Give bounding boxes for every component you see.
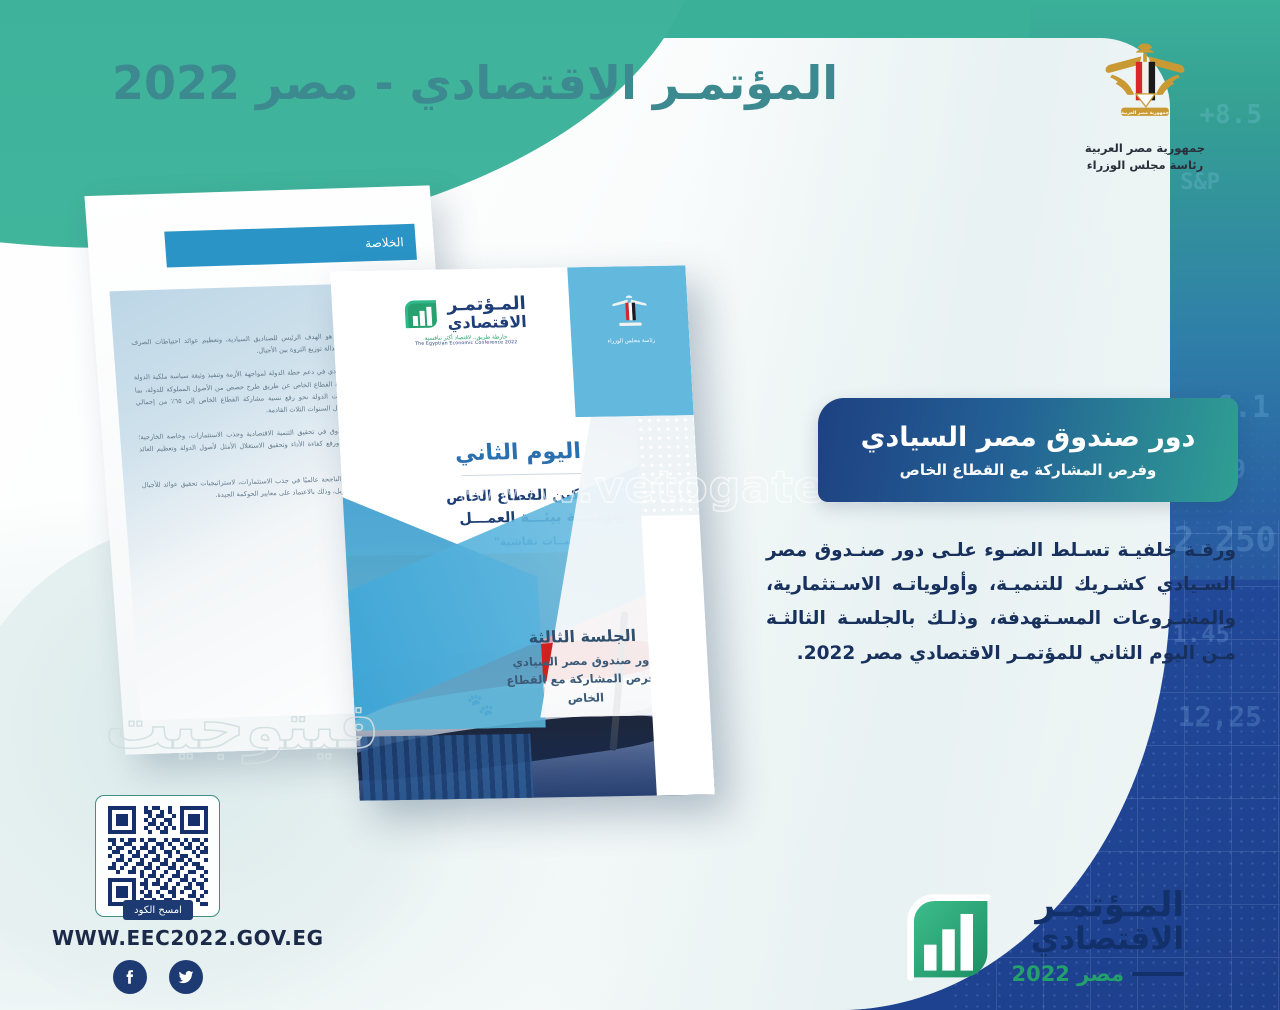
social-links[interactable]: [113, 960, 203, 994]
government-emblem-block: جمهورية مصر العربية جمهورية مصر العربية …: [1070, 36, 1220, 175]
summary-header-bar: الخلاصة: [164, 224, 417, 268]
emblem-caption-line2: رئاسة مجلس الوزراء: [1070, 157, 1220, 174]
facebook-icon[interactable]: [113, 960, 147, 994]
body-paragraph: ورقـة خلفيـة تسـلط الضـوء علـى دور صنـدو…: [766, 534, 1236, 671]
cover-logo-mark-row: المـؤتمـر الاقتصادي: [402, 295, 527, 333]
twitter-icon[interactable]: [169, 960, 203, 994]
poster-canvas: +8.5 S&P +6.1 +3.9 2,250 1.45 12,25 المؤ…: [0, 0, 1280, 1010]
emblem-caption: جمهورية مصر العربية رئاسة مجلس الوزراء: [1070, 140, 1220, 175]
document-front-cover: رئاسة مجلس الوزراء المـؤتمـر الاقتصادي خ…: [330, 265, 715, 800]
cover-conference-logo: المـؤتمـر الاقتصادي خارطة طريق.. لاقتصاد…: [369, 294, 562, 348]
cover-logo-words: المـؤتمـر الاقتصادي: [446, 295, 527, 332]
event-logo-dash: [1132, 972, 1184, 976]
cover-session-sub-line2: وفرص المشاركة مع القطاع: [506, 671, 663, 688]
page-title: المؤتمـر الاقتصادي - مصر 2022: [0, 56, 950, 110]
leaf-bar-chart-logo-mark-icon: [901, 889, 997, 985]
event-logo-line1: المـؤتمـر: [1011, 888, 1184, 922]
session-banner: دور صندوق مصر السيادي وفرص المشاركة مع ا…: [818, 398, 1238, 502]
banner-subtitle: وفرص المشاركة مع القطاع الخاص: [900, 461, 1157, 479]
cover-dot-strip: [636, 415, 700, 526]
cover-session-sub-line1: دور صندوق مصر السيادي: [512, 653, 655, 669]
emblem-caption-line1: جمهورية مصر العربية: [1070, 140, 1220, 157]
egypt-eagle-emblem-icon: جمهورية مصر العربية: [1090, 36, 1200, 128]
cover-logo-line2: الاقتصادي: [447, 314, 527, 332]
qr-scan-label: امسح الكود: [123, 900, 193, 920]
svg-text:جمهورية مصر العربية: جمهورية مصر العربية: [1121, 111, 1169, 116]
leaf-bar-chart-logo-mark-icon: [402, 297, 442, 332]
event-logo: المـؤتمـر الاقتصادي مصر 2022: [901, 888, 1184, 986]
event-logo-line2: الاقتصادي: [1011, 922, 1184, 957]
banner-title: دور صندوق مصر السيادي: [861, 422, 1196, 453]
qr-frame[interactable]: [95, 795, 220, 917]
qr-block[interactable]: امسح الكود: [95, 795, 235, 917]
cover-divider: [462, 473, 582, 476]
event-logo-year: مصر 2022: [1011, 962, 1124, 986]
facebook-glyph: [121, 968, 139, 986]
event-logo-words: المـؤتمـر الاقتصادي مصر 2022: [1011, 888, 1184, 986]
event-logo-year-row: مصر 2022: [1011, 962, 1184, 986]
twitter-glyph: [177, 968, 195, 986]
website-url[interactable]: WWW.EEC2022.GOV.EG: [52, 926, 324, 950]
cover-session-sub-line3: الخاص: [567, 690, 604, 705]
cover-cabinet-emblem: رئاسة مجلس الوزراء: [589, 292, 672, 345]
cabinet-eagle-emblem-icon: [605, 292, 655, 333]
qr-code[interactable]: [108, 806, 208, 906]
